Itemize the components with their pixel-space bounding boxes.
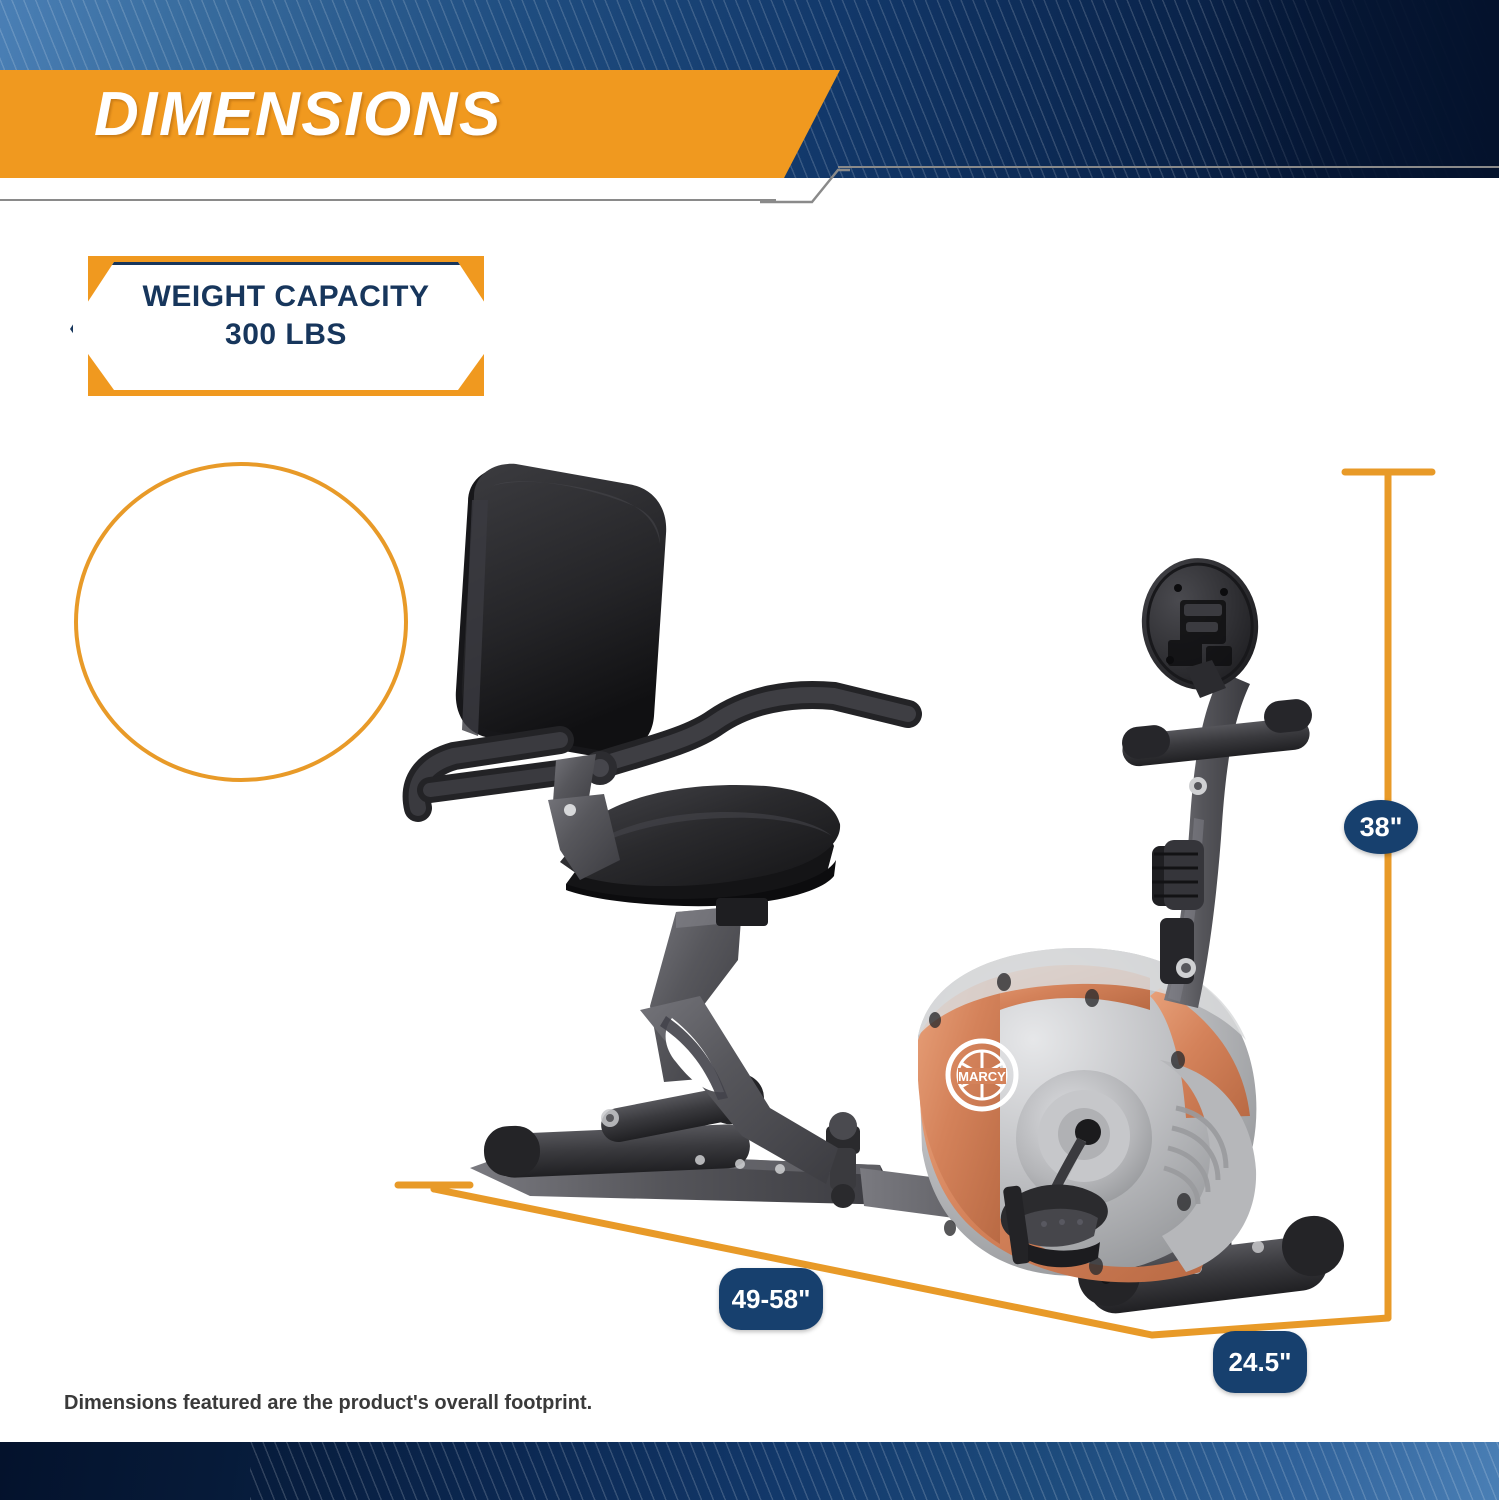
upright-mast (1152, 672, 1250, 1008)
tension-knob (1152, 840, 1204, 910)
console-display (1133, 551, 1266, 698)
footer-stripe-pattern (250, 1442, 1499, 1500)
length-badge: 49-58" (719, 1268, 823, 1330)
footer-band (0, 1442, 1499, 1500)
backrest-pad (456, 464, 666, 759)
width-badge: 24.5" (1213, 1331, 1307, 1393)
infographic-page: DIMENSIONS WEIGHT CAPACITY 300 LBS (0, 0, 1499, 1500)
footprint-note: Dimensions featured are the product's ov… (64, 1392, 592, 1415)
svg-text:MARCY: MARCY (958, 1069, 1006, 1084)
marcy-logo-icon: MARCY (948, 1041, 1016, 1109)
height-badge: 38" (1344, 800, 1418, 854)
